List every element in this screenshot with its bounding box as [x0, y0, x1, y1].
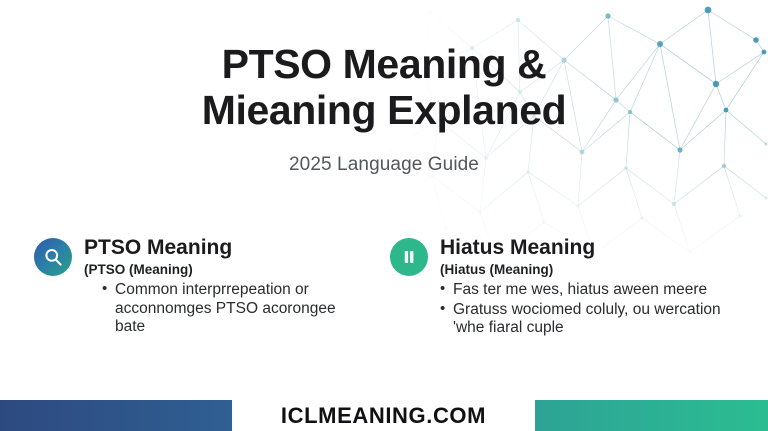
- column-body-ptso: PTSO Meaning (PTSO (Meaning) Common inte…: [84, 236, 390, 337]
- header: PTSO Meaning & Mieaning Explaned 2025 La…: [0, 42, 768, 176]
- bullet-list-hiatus: Fas ter me wes, hiatus aween meere Gratu…: [440, 281, 768, 337]
- content-column-ptso: PTSO Meaning (PTSO (Meaning) Common inte…: [0, 236, 390, 338]
- bullet-list-ptso: Common interprrepeation or acconnomges P…: [102, 281, 390, 336]
- slide-canvas: PTSO Meaning & Mieaning Explaned 2025 La…: [0, 0, 768, 431]
- content-columns: PTSO Meaning (PTSO (Meaning) Common inte…: [0, 236, 768, 338]
- list-item: Gratuss wociomed coluly, ou wercation 'w…: [440, 301, 728, 338]
- content-column-hiatus: Hiatus Meaning (Hiatus (Meaning) Fas ter…: [390, 236, 768, 338]
- pause-icon: [390, 238, 428, 276]
- column-body-hiatus: Hiatus Meaning (Hiatus (Meaning) Fas ter…: [440, 236, 768, 338]
- page-title-line-1: PTSO Meaning &: [0, 42, 768, 88]
- search-icon: [34, 238, 72, 276]
- site-label-plate: ICLMEANING.COM: [232, 400, 535, 431]
- list-item: Common interprrepeation or acconnomges P…: [102, 281, 360, 336]
- column-sublabel-ptso: (PTSO (Meaning): [84, 262, 390, 278]
- column-sublabel-hiatus: (Hiatus (Meaning): [440, 262, 768, 278]
- list-item: Fas ter me wes, hiatus aween meere: [440, 281, 728, 299]
- column-heading-ptso: PTSO Meaning: [84, 236, 390, 260]
- site-label: ICLMEANING.COM: [281, 403, 486, 429]
- footer-bar: ICLMEANING.COM: [0, 400, 768, 431]
- page-title-line-2: Mieaning Explaned: [0, 88, 768, 134]
- column-heading-hiatus: Hiatus Meaning: [440, 236, 768, 260]
- page-subtitle: 2025 Language Guide: [0, 154, 768, 176]
